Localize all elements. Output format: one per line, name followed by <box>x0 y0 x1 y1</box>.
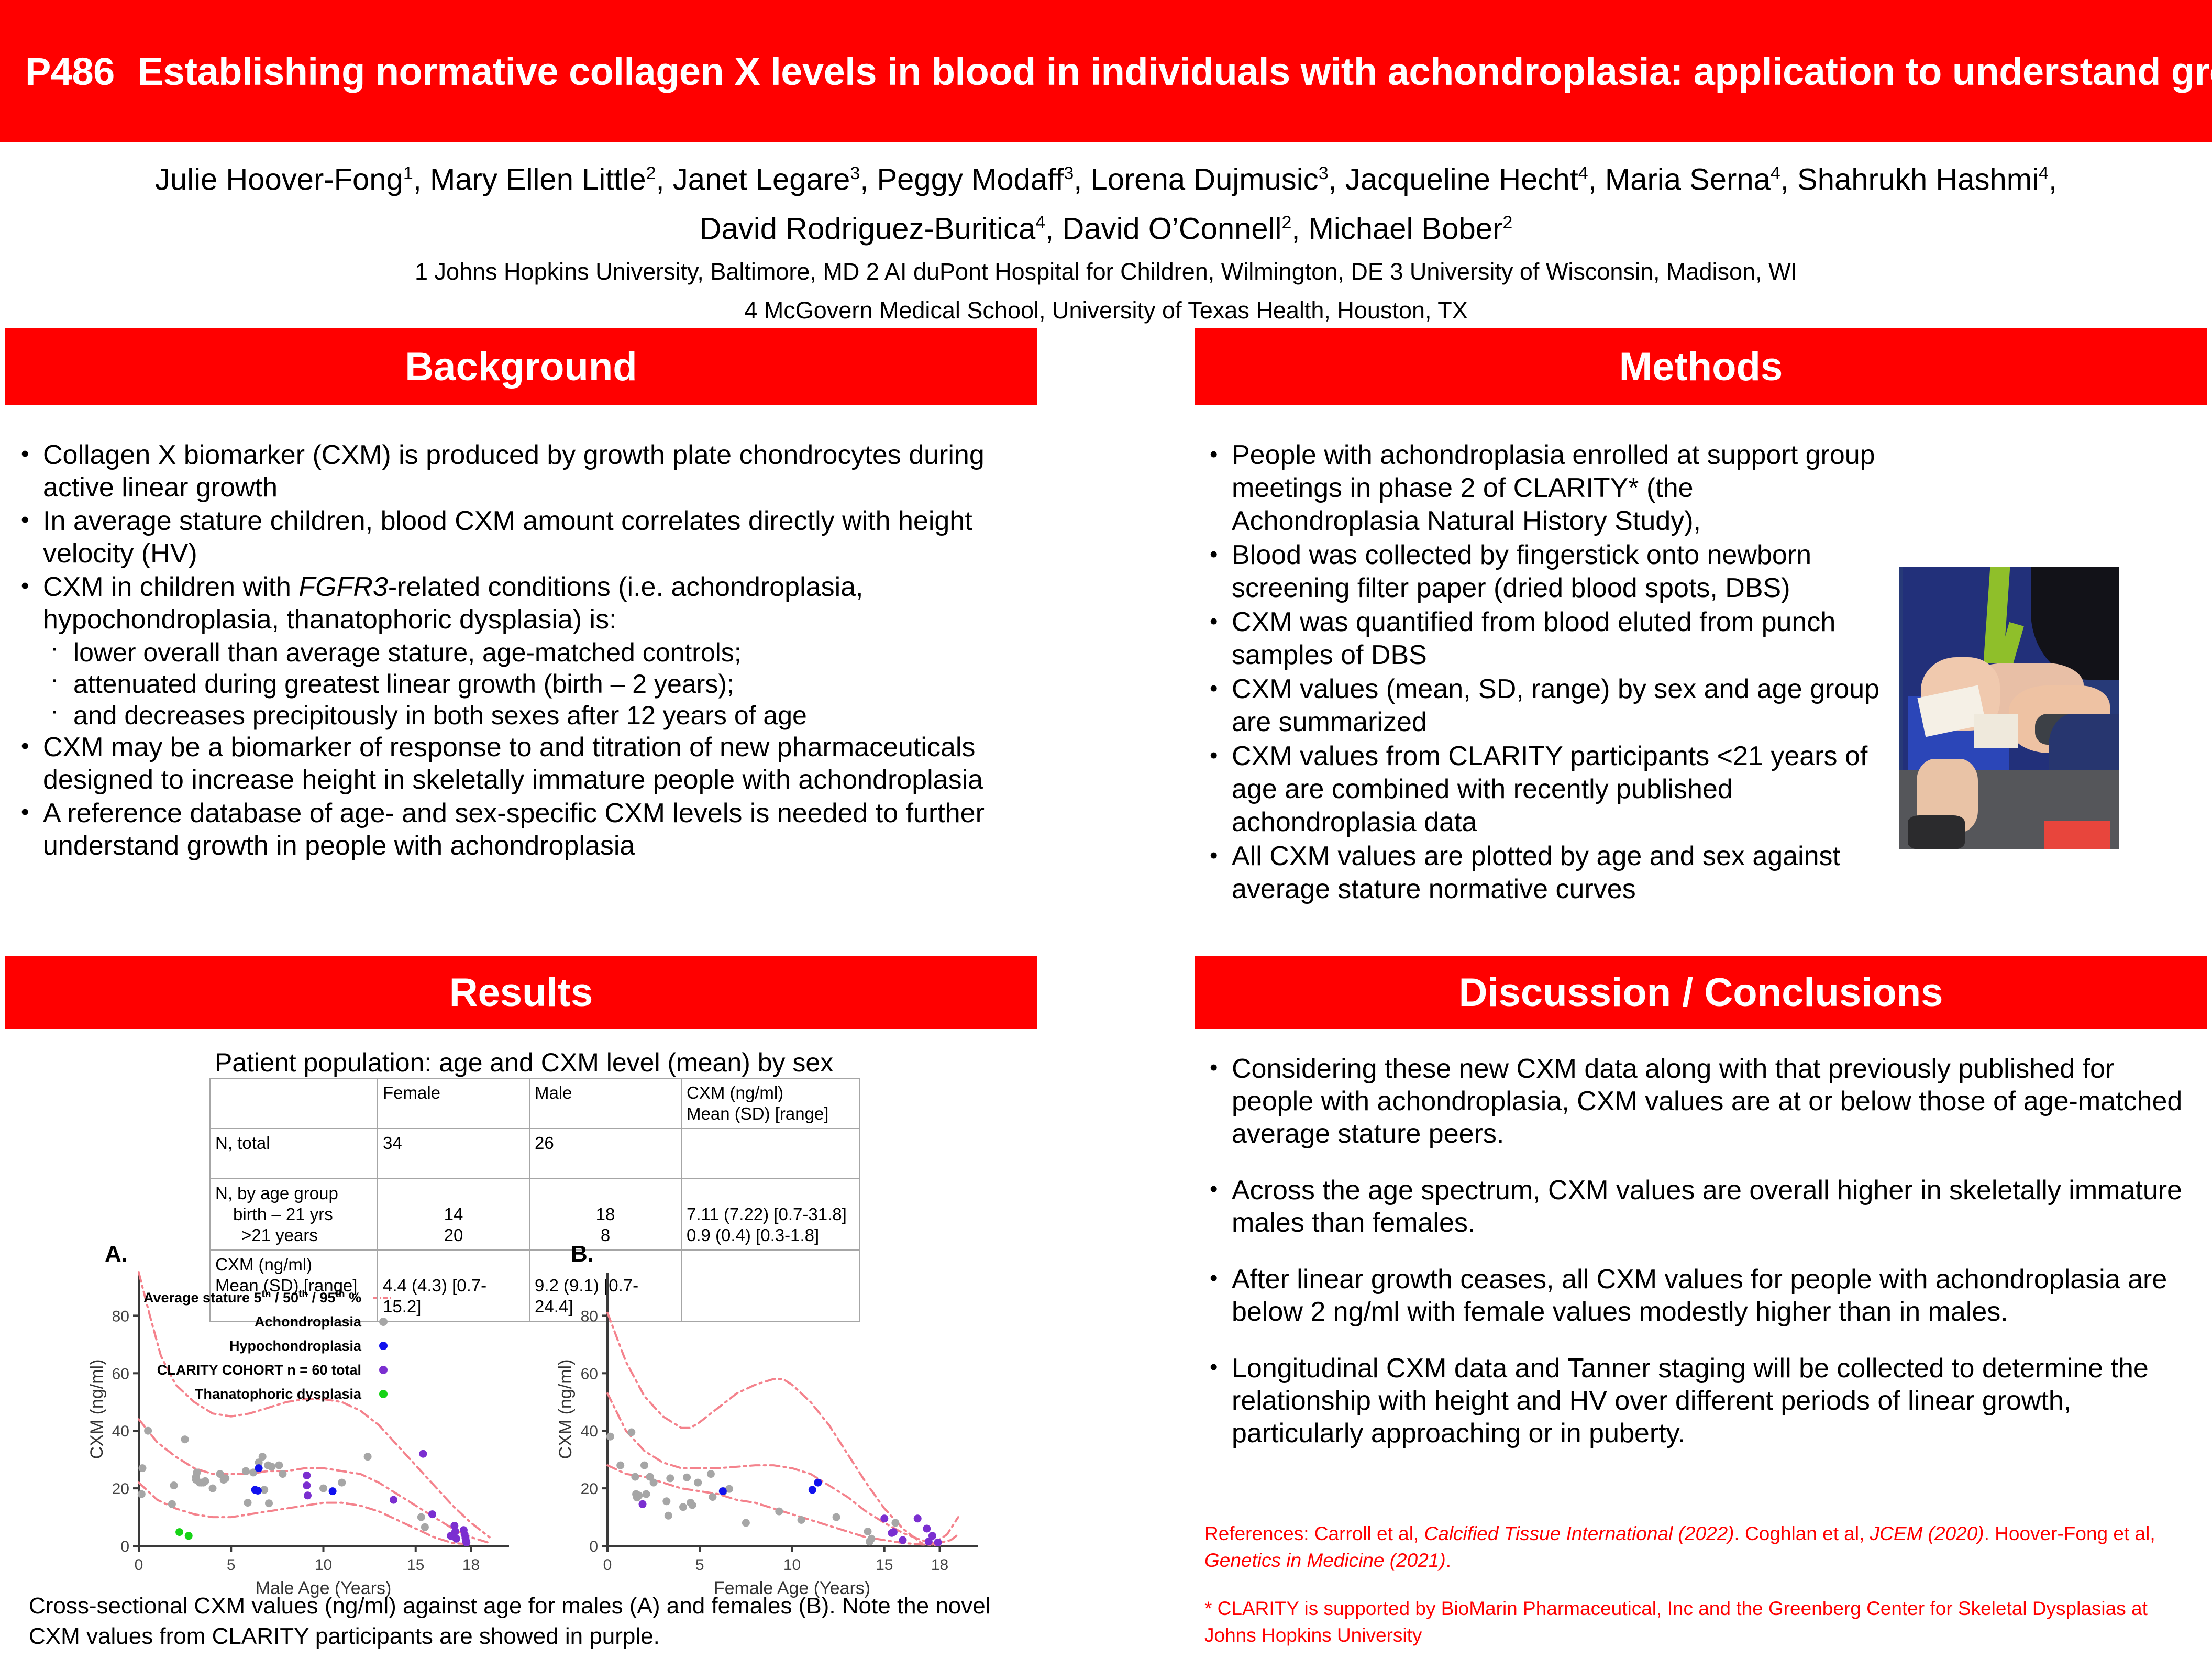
svg-text:CXM (ng/ml): CXM (ng/ml) <box>89 1359 107 1459</box>
svg-text:18: 18 <box>462 1556 480 1574</box>
list-item: CXM values from CLARITY participants <21… <box>1204 740 1885 839</box>
section-banner-discussion: Discussion / Conclusions <box>1195 956 2207 1029</box>
svg-text:15: 15 <box>876 1556 893 1574</box>
results-table-title: Patient population: age and CXM level (m… <box>215 1047 948 1078</box>
list-item: Blood was collected by fingerstick onto … <box>1204 539 1885 605</box>
scatter-plot-female: 02040608005101518Female Age (Years)CXM (… <box>558 1257 992 1602</box>
list-item: After linear growth ceases, all CXM valu… <box>1204 1263 2199 1328</box>
svg-text:80: 80 <box>581 1308 598 1325</box>
authors-line-2: David Rodriguez-Buritica4, David O’Conne… <box>0 201 2212 250</box>
list-item: CXM in children with FGFR3-related condi… <box>16 571 1026 636</box>
page-title: P486Establishing normative collagen X le… <box>0 49 2212 94</box>
svg-text:Achondroplasia: Achondroplasia <box>255 1314 362 1330</box>
authors-line-1: Julie Hoover-Fong1, Mary Ellen Little2, … <box>0 152 2212 201</box>
section-heading-background: Background <box>405 344 637 390</box>
svg-text:0: 0 <box>603 1556 612 1574</box>
table-cell: Female <box>378 1078 529 1129</box>
list-item: All CXM values are plotted by age and se… <box>1204 840 1885 906</box>
references-text: References: Carroll et al, Calcified Tis… <box>1204 1520 2199 1574</box>
list-item: Considering these new CXM data along wit… <box>1204 1053 2199 1150</box>
svg-text:40: 40 <box>581 1423 598 1440</box>
list-item: CXM may be a biomarker of response to an… <box>16 731 1026 796</box>
table-row: N, by age group birth – 21 yrs >21 years… <box>210 1179 859 1250</box>
section-banner-methods: Methods <box>1195 328 2207 405</box>
list-item: People with achondroplasia enrolled at s… <box>1204 439 1885 538</box>
svg-text:40: 40 <box>112 1423 129 1440</box>
svg-text:Hypochondroplasia: Hypochondroplasia <box>229 1338 362 1354</box>
fingerstick-blood-collection-photo <box>1899 567 2119 849</box>
svg-text:18: 18 <box>931 1556 948 1574</box>
table-cell <box>210 1078 378 1129</box>
svg-text:5: 5 <box>227 1556 236 1574</box>
poster-code: P486 <box>25 50 115 93</box>
svg-text:CLARITY COHORT n = 60 total: CLARITY COHORT n = 60 total <box>157 1362 361 1378</box>
table-cell: 14 20 <box>378 1179 529 1250</box>
list-item: A reference database of age- and sex-spe… <box>16 797 1026 862</box>
authors-block: Julie Hoover-Fong1, Mary Ellen Little2, … <box>0 152 2212 328</box>
list-item: CXM values (mean, SD, range) by sex and … <box>1204 673 1885 739</box>
list-item: In average stature children, blood CXM a… <box>16 505 1026 570</box>
list-item: and decreases precipitously in both sexe… <box>16 700 1026 731</box>
svg-text:20: 20 <box>581 1480 598 1498</box>
list-item: CXM was quantified from blood eluted fro… <box>1204 606 1885 672</box>
title-bar: P486Establishing normative collagen X le… <box>0 0 2212 142</box>
svg-text:0: 0 <box>120 1538 129 1555</box>
svg-text:CXM (ng/ml): CXM (ng/ml) <box>558 1359 576 1459</box>
table-header-row: Female Male CXM (ng/ml) Mean (SD) [range… <box>210 1078 859 1129</box>
table-cell: N, total <box>210 1129 378 1179</box>
chart-panel-b: 02040608005101518Female Age (Years)CXM (… <box>558 1257 992 1602</box>
svg-text:10: 10 <box>783 1556 801 1574</box>
svg-text:60: 60 <box>112 1365 129 1382</box>
table-cell <box>681 1129 859 1179</box>
table-cell: Male <box>529 1078 681 1129</box>
table-cell: 34 <box>378 1129 529 1179</box>
background-bullet-list: Collagen X biomarker (CXM) is produced b… <box>16 439 1026 863</box>
poster-title: Establishing normative collagen X levels… <box>138 50 2212 93</box>
section-banner-background: Background <box>5 328 1037 405</box>
list-item: Collagen X biomarker (CXM) is produced b… <box>16 439 1026 504</box>
list-item: lower overall than average stature, age-… <box>16 637 1026 668</box>
svg-text:0: 0 <box>135 1556 143 1574</box>
table-cell: 18 8 <box>529 1179 681 1250</box>
svg-text:10: 10 <box>315 1556 332 1574</box>
table-row: N, total 34 26 <box>210 1129 859 1179</box>
list-item: Across the age spectrum, CXM values are … <box>1204 1174 2199 1239</box>
svg-text:Thanatophoric dysplasia: Thanatophoric dysplasia <box>195 1386 362 1402</box>
scatter-plot-male: 02040608005101518Male Age (Years)CXM (ng… <box>89 1257 524 1602</box>
table-cell: N, by age group birth – 21 yrs >21 years <box>210 1179 378 1250</box>
table-cell: 26 <box>529 1129 681 1179</box>
list-item: attenuated during greatest linear growth… <box>16 668 1026 700</box>
svg-text:0: 0 <box>589 1538 598 1555</box>
svg-text:Average stature 5th / 50th / 9: Average stature 5th / 50th / 95th % <box>143 1289 361 1306</box>
section-heading-methods: Methods <box>1619 344 1783 390</box>
list-item: Longitudinal CXM data and Tanner staging… <box>1204 1352 2199 1450</box>
table-cell: CXM (ng/ml) Mean (SD) [range] <box>681 1078 859 1129</box>
funding-statement: * CLARITY is supported by BioMarin Pharm… <box>1204 1595 2199 1649</box>
section-heading-discussion: Discussion / Conclusions <box>1459 970 1943 1015</box>
svg-text:60: 60 <box>581 1365 598 1382</box>
figure-caption: Cross-sectional CXM values (ng/ml) again… <box>29 1591 1008 1652</box>
affiliation-line-2: 4 McGovern Medical School, University of… <box>0 290 2212 328</box>
table-cell: 7.11 (7.22) [0.7-31.8] 0.9 (0.4) [0.3-1.… <box>681 1179 859 1250</box>
methods-bullet-list: People with achondroplasia enrolled at s… <box>1204 439 1885 907</box>
affiliation-line-1: 1 Johns Hopkins University, Baltimore, M… <box>0 251 2212 290</box>
svg-text:80: 80 <box>112 1308 129 1325</box>
svg-text:15: 15 <box>407 1556 424 1574</box>
poster-root: P486Establishing normative collagen X le… <box>0 0 2212 1659</box>
discussion-bullet-list: Considering these new CXM data along wit… <box>1204 1053 2199 1474</box>
section-heading-results: Results <box>449 970 593 1015</box>
svg-text:5: 5 <box>695 1556 704 1574</box>
svg-text:20: 20 <box>112 1480 129 1498</box>
section-banner-results: Results <box>5 956 1037 1029</box>
chart-panel-a: 02040608005101518Male Age (Years)CXM (ng… <box>89 1257 524 1602</box>
